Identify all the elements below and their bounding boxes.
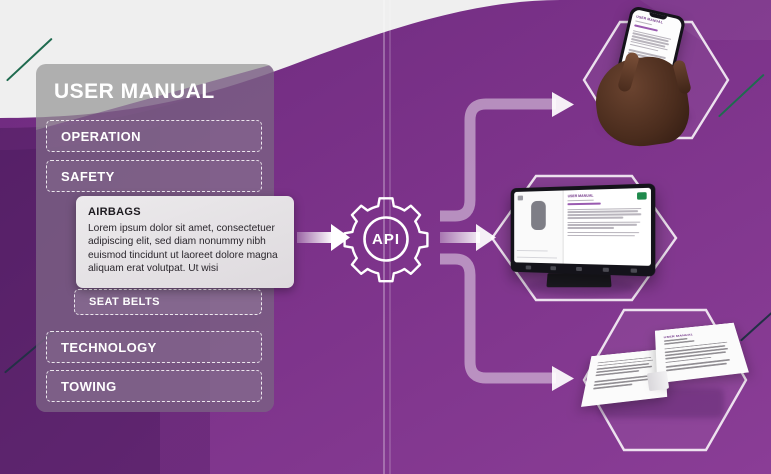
book-title: USER MANUAL (664, 329, 729, 339)
book-spine (647, 371, 669, 392)
infotainment-screen: USER MANUAL (514, 188, 651, 266)
airbags-callout[interactable]: AIRBAGS Lorem ipsum dolor sit amet, cons… (76, 196, 294, 288)
manual-document-pane: USER MANUAL (564, 188, 651, 266)
chip-label: TECHNOLOGY (61, 340, 157, 355)
chip-technology[interactable]: TECHNOLOGY (46, 331, 262, 363)
chip-towing[interactable]: TOWING (46, 370, 262, 402)
chip-label: SEAT BELTS (89, 296, 160, 308)
book-page-right: USER MANUAL (655, 323, 749, 384)
chip-seat-belts[interactable]: SEAT BELTS (74, 289, 262, 315)
output-infotainment[interactable]: USER MANUAL (495, 176, 671, 298)
infotainment-device: USER MANUAL (511, 183, 656, 276)
api-hub[interactable]: API (340, 191, 432, 283)
infographic-canvas: USER MANUAL OPERATION SAFETY SEAT BELTS … (0, 0, 771, 474)
chip-safety[interactable]: SAFETY (46, 160, 262, 192)
callout-heading: AIRBAGS (88, 206, 282, 218)
status-badge (637, 192, 647, 200)
car-diagram-icon (531, 201, 546, 230)
screen-title: USER MANUAL (568, 192, 647, 198)
chip-label: OPERATION (61, 129, 141, 144)
vehicle-status-pane (514, 190, 564, 263)
chip-label: TOWING (61, 379, 117, 394)
page-title: USER MANUAL (54, 80, 215, 104)
callout-body: Lorem ipsum dolor sit amet, consectetuer… (88, 222, 282, 276)
chip-label: SAFETY (61, 169, 115, 184)
output-mobile[interactable]: USER MANUAL (596, 6, 706, 146)
screen-stand (546, 273, 611, 287)
chip-operation[interactable]: OPERATION (46, 120, 262, 152)
output-print[interactable]: USER MANUAL (588, 316, 744, 428)
api-label: API (340, 191, 432, 283)
